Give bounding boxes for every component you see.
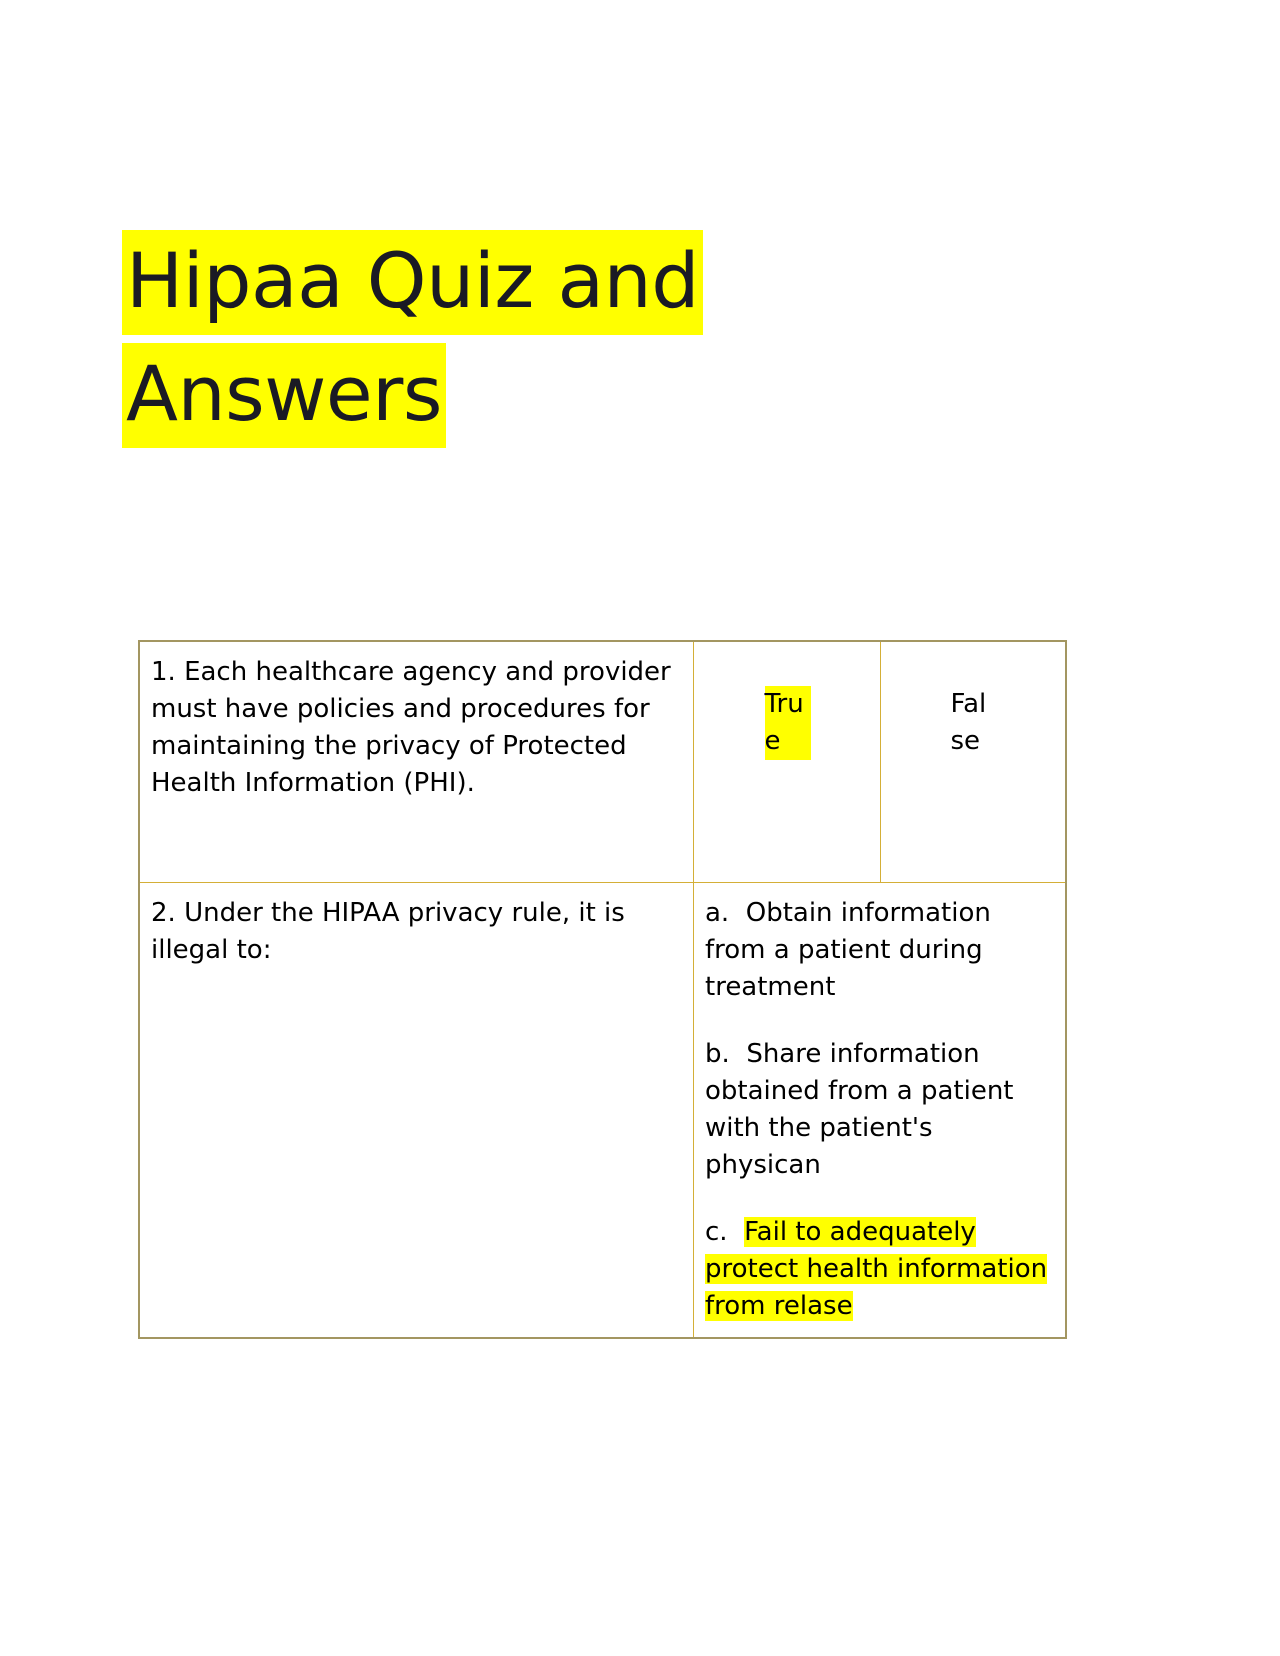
answer-option-false[interactable]: False — [951, 686, 997, 760]
list-item[interactable]: a. Obtain information from a patient dur… — [705, 895, 1055, 1006]
question-text-1: 1. Each healthcare agency and provider m… — [140, 642, 693, 814]
table-row: 2. Under the HIPAA privacy rule, it is i… — [139, 883, 1066, 1339]
question-cell-2: 2. Under the HIPAA privacy rule, it is i… — [139, 883, 694, 1339]
document-page: Hipaa Quiz and Answers 1. Each healthcar… — [0, 0, 1280, 1656]
option-marker-c: c. — [705, 1217, 728, 1247]
option-text-c[interactable]: Fail to adequately protect health inform… — [705, 1217, 1047, 1321]
question-cell-1: 1. Each healthcare agency and provider m… — [139, 641, 694, 883]
answer-cell-1-false[interactable]: False — [881, 641, 1067, 883]
option-text-b[interactable]: Share information obtained from a patien… — [705, 1039, 1014, 1180]
quiz-table: 1. Each healthcare agency and provider m… — [138, 640, 1067, 1339]
option-text-a[interactable]: Obtain information from a patient during… — [705, 898, 991, 1002]
answer-true-wrapper: True — [694, 642, 880, 772]
list-item[interactable]: c. Fail to adequately protect health inf… — [705, 1214, 1055, 1325]
table-clip-region: 1. Each healthcare agency and provider m… — [0, 0, 1280, 1485]
option-marker-b: b. — [705, 1039, 730, 1069]
answer-cell-1-true[interactable]: True — [694, 641, 881, 883]
question-text-2: 2. Under the HIPAA privacy rule, it is i… — [140, 883, 693, 981]
answer-option-true[interactable]: True — [765, 686, 811, 760]
option-marker-a: a. — [705, 898, 729, 928]
answer-false-wrapper: False — [881, 642, 1065, 772]
answer-options-list-2: a. Obtain information from a patient dur… — [694, 883, 1065, 1337]
answer-cell-2-options: a. Obtain information from a patient dur… — [694, 883, 1067, 1339]
table-row: 1. Each healthcare agency and provider m… — [139, 641, 1066, 883]
list-item[interactable]: b. Share information obtained from a pat… — [705, 1036, 1055, 1184]
